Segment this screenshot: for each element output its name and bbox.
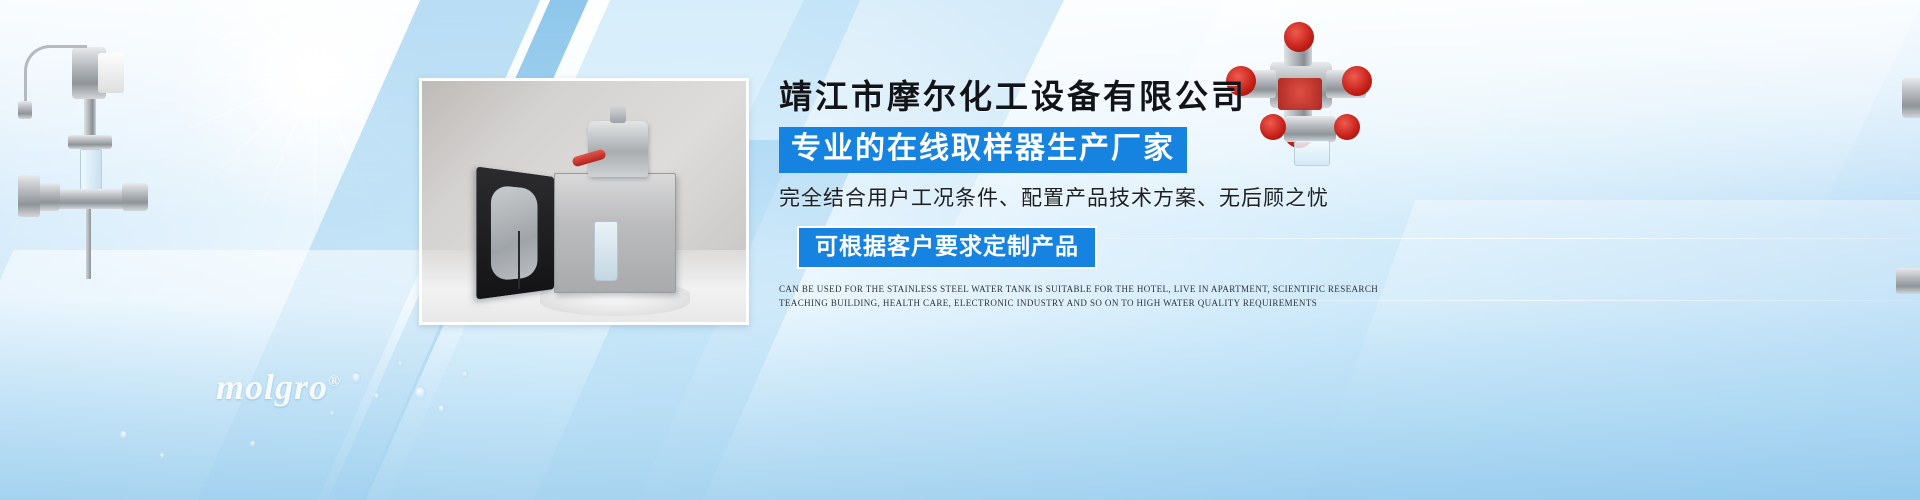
tagline-badge: 专业的在线取样器生产厂家 (779, 127, 1187, 173)
brand-watermark: molgro® (216, 366, 341, 408)
hero-banner: 靖江市摩尔化工设备有限公司 专业的在线取样器生产厂家 完全结合用户工况条件、配置… (0, 0, 1920, 500)
sampler-valve-assembly-left (10, 25, 160, 265)
registered-trademark-icon: ® (328, 373, 341, 390)
sight-glass-valve-bottom-right (1896, 228, 1920, 388)
company-name: 靖江市摩尔化工设备有限公司 (779, 78, 1409, 118)
sub-headline: 完全结合用户工况条件、配置产品技术方案、无后顾之忧 (779, 185, 1409, 212)
flanged-body-valve-right (1900, 26, 1920, 196)
online-sampler-cabinet-photo (419, 78, 749, 325)
brand-watermark-text: molgro (216, 367, 328, 407)
hero-text-block: 靖江市摩尔化工设备有限公司 专业的在线取样器生产厂家 完全结合用户工况条件、配置… (779, 78, 1409, 310)
custom-product-cta[interactable]: 可根据客户要求定制产品 (797, 226, 1097, 269)
english-description: CAN BE USED FOR THE STAINLESS STEEL WATE… (779, 282, 1379, 310)
